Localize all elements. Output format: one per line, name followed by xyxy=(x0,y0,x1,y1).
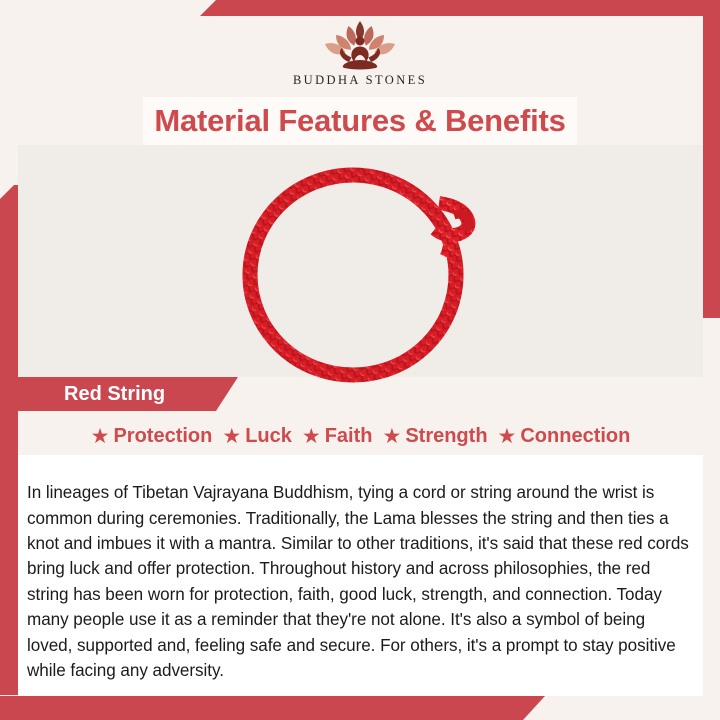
feature-item-strength: ★ Strength xyxy=(382,425,487,448)
feature-label: Faith xyxy=(325,425,373,448)
headline-banner: Material Features & Benefits xyxy=(143,97,577,145)
star-icon: ★ xyxy=(302,426,321,447)
feature-item-luck: ★ Luck xyxy=(222,425,292,448)
star-icon: ★ xyxy=(91,426,110,447)
page-title: Material Features & Benefits xyxy=(154,103,565,139)
product-tag-label: Red String xyxy=(64,383,165,406)
frame-accent-bottom xyxy=(0,696,545,720)
feature-label: Strength xyxy=(405,425,487,448)
description-panel: In lineages of Tibetan Vajrayana Buddhis… xyxy=(18,455,703,696)
star-icon: ★ xyxy=(222,426,241,447)
feature-label: Protection xyxy=(113,425,212,448)
feature-item-protection: ★ Protection xyxy=(91,425,213,448)
feature-label: Connection xyxy=(520,425,630,448)
infographic-page: BUDDHA STONES Material Features & Benefi… xyxy=(0,0,720,720)
star-icon: ★ xyxy=(498,426,517,447)
brand-logo: BUDDHA STONES xyxy=(0,18,720,96)
hero-section xyxy=(18,145,703,377)
star-icon: ★ xyxy=(382,426,401,447)
description-text: In lineages of Tibetan Vajrayana Buddhis… xyxy=(27,480,691,683)
brand-name: BUDDHA STONES xyxy=(293,73,427,88)
feature-item-connection: ★ Connection xyxy=(498,425,631,448)
feature-label: Luck xyxy=(245,425,292,448)
feature-item-faith: ★ Faith xyxy=(302,425,373,448)
red-braided-string-bracelet-icon xyxy=(226,157,496,385)
frame-accent-left xyxy=(0,185,18,695)
product-tag-banner: Red String xyxy=(18,377,238,411)
feature-list: ★ Protection ★ Luck ★ Faith ★ Strength ★… xyxy=(18,419,703,453)
frame-accent-top xyxy=(200,0,720,16)
lotus-meditation-icon xyxy=(317,18,403,70)
